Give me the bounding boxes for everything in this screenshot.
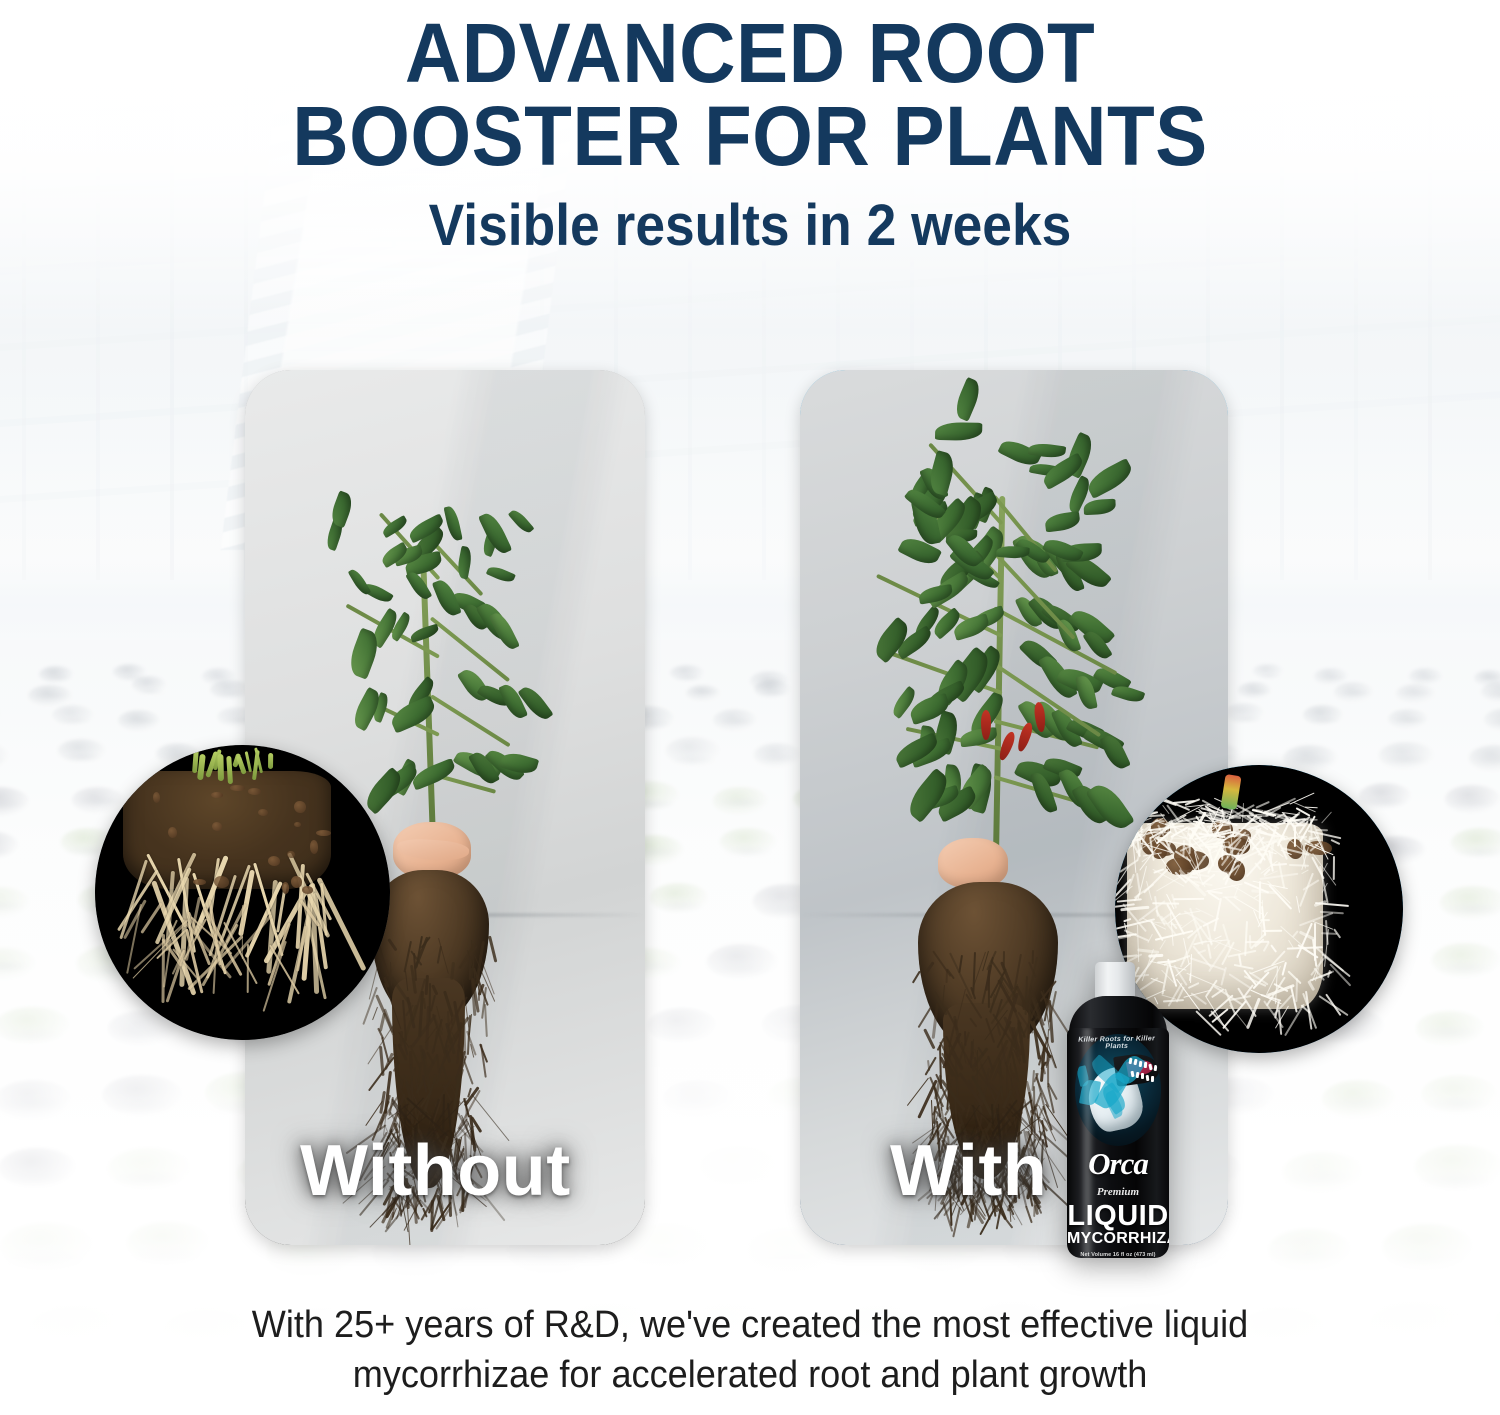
- footer-line-2: mycorrhizae for accelerated root and pla…: [38, 1350, 1463, 1400]
- subheadline: Visible results in 2 weeks: [60, 196, 1440, 257]
- footer-caption: With 25+ years of R&D, we've created the…: [38, 1300, 1463, 1400]
- marketing-image: ADVANCED ROOT BOOSTER FOR PLANTS Visible…: [0, 0, 1500, 1415]
- caption-with: With: [890, 1130, 1047, 1212]
- hand: [938, 838, 1008, 888]
- headline-line-1: ADVANCED ROOT: [53, 12, 1448, 95]
- bottle-highlight: [1081, 1028, 1094, 1258]
- bottle-body: Killer Roots for Killer Plants Orca Prem…: [1067, 1028, 1169, 1258]
- root-closeup-without: [95, 745, 390, 1040]
- page-title: ADVANCED ROOT BOOSTER FOR PLANTS: [53, 0, 1448, 178]
- root-closeup-without-photo: [95, 745, 390, 1040]
- footer-line-1: With 25+ years of R&D, we've created the…: [38, 1300, 1463, 1350]
- caption-without: Without: [300, 1130, 571, 1212]
- product-bottle: Killer Roots for Killer Plants Orca Prem…: [1063, 962, 1173, 1262]
- headline-block: ADVANCED ROOT BOOSTER FOR PLANTS Visible…: [0, 0, 1500, 257]
- headline-line-2: BOOSTER FOR PLANTS: [53, 95, 1448, 178]
